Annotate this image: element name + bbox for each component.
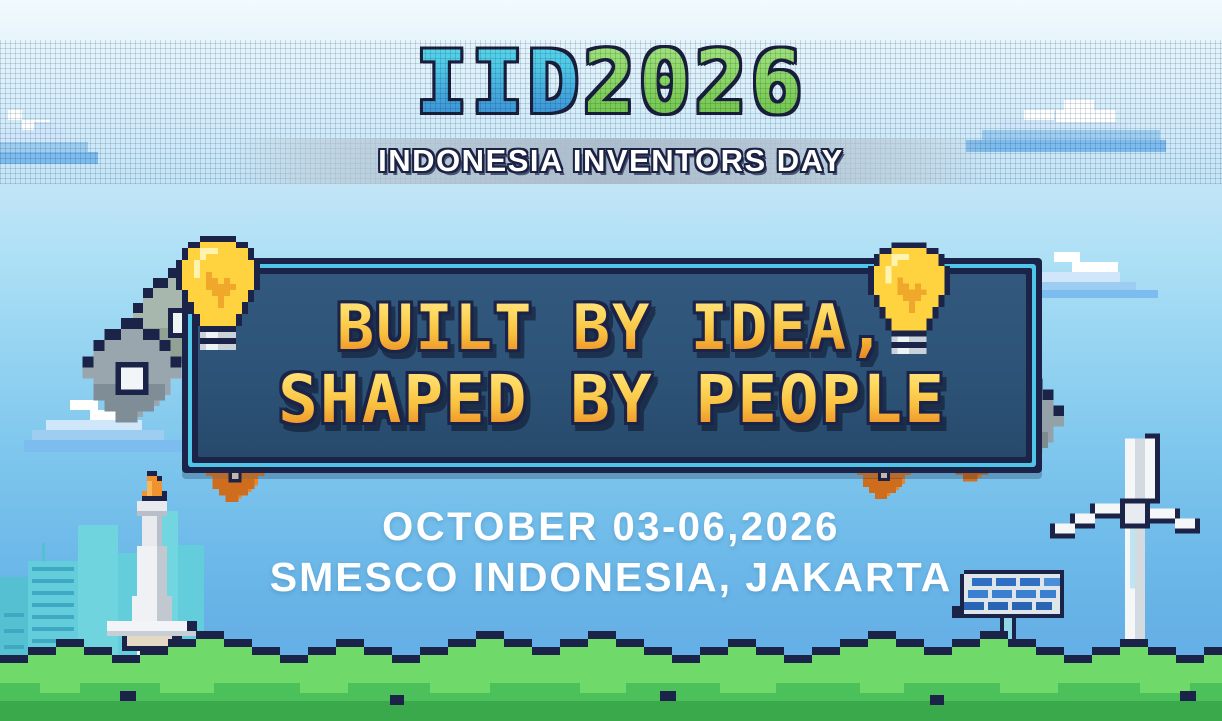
- logo-year: 2026: [583, 40, 806, 126]
- logo-acronym: IID: [416, 40, 583, 126]
- logo-subtitle: INDONESIA INVENTORS DAY: [378, 143, 844, 179]
- logo-block: IID 2026 INDONESIA INVENTORS DAY: [0, 40, 1222, 184]
- lightbulb-icon: [862, 242, 956, 365]
- event-date: OCTOBER 03-06,2026: [382, 505, 840, 550]
- tagline-line-2: SHAPED BY PEOPLE: [278, 364, 946, 435]
- poster-canvas: IID 2026 INDONESIA INVENTORS DAY: [0, 0, 1222, 721]
- logo-title: IID 2026: [416, 40, 806, 126]
- grass-terrain: [0, 591, 1222, 721]
- tagline-line-1: BUILT BY IDEA,: [337, 295, 888, 362]
- subtitle-band: INDONESIA INVENTORS DAY: [231, 138, 991, 184]
- lightbulb-icon: [170, 236, 266, 361]
